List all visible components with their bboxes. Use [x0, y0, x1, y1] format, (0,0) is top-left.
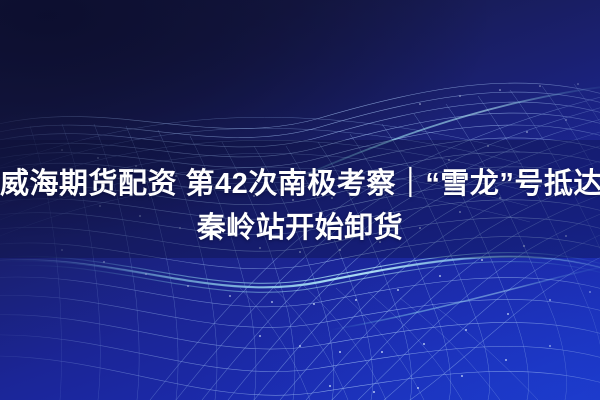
promo-banner: 威海期货配资 第42次南极考察｜“雪龙”号抵达 秦岭站开始卸货: [0, 0, 600, 400]
banner-headline: 威海期货配资 第42次南极考察｜“雪龙”号抵达 秦岭站开始卸货: [0, 162, 600, 250]
headline-line-2: 秦岭站开始卸货: [0, 206, 600, 250]
headline-line-1: 威海期货配资 第42次南极考察｜“雪龙”号抵达: [0, 162, 600, 206]
